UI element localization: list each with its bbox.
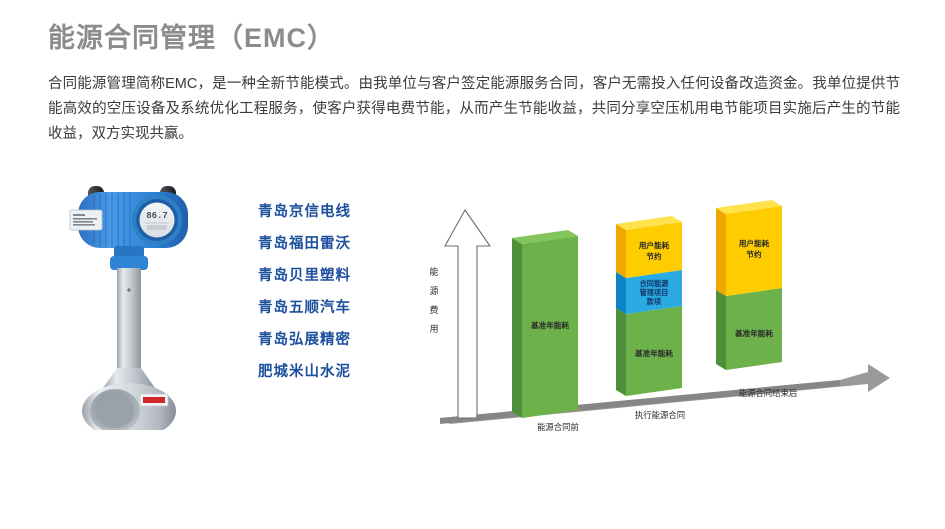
bar-2-segment-baseline-side — [616, 308, 626, 396]
bar-2-baseline-label: 基准年能耗 — [634, 348, 673, 358]
bar-2-saving-label-line1: 用户能耗 — [638, 240, 670, 250]
page-title: 能源合同管理（EMC） — [48, 16, 335, 55]
bar-2-payment-label-line1: 合同能源 — [639, 279, 670, 288]
bar-2-saving-label-line2: 节约 — [646, 251, 662, 261]
y-axis-arrow — [445, 210, 490, 418]
bar-2-payment-label-line2: 管理项目 — [640, 288, 669, 297]
x-axis-label-3: 能源合同结束后 — [739, 388, 798, 398]
bar-3-segment-baseline-side — [716, 290, 726, 370]
x-axis-label-1: 能源合同前 — [537, 422, 579, 432]
list-item: 青岛福田雷沃 — [258, 228, 388, 260]
flowmeter-illustration: 86.7 — [60, 180, 205, 430]
bar-3-baseline-label: 基准年能耗 — [734, 328, 773, 338]
flowmeter-display-reading: 86.7 — [146, 211, 168, 221]
chart-bar-3: 基准年能耗 用户能耗 节约 — [716, 200, 782, 370]
chart-bar-1: 基准年能耗 — [512, 230, 578, 418]
list-item: 青岛五顺汽车 — [258, 292, 388, 324]
bar-2-segment-saving-side — [616, 224, 626, 278]
client-list: 青岛京信电线 青岛福田雷沃 青岛贝里塑料 青岛五顺汽车 青岛弘展精密 肥城米山水… — [258, 196, 388, 388]
bar-3-saving-label-line1: 用户能耗 — [738, 238, 770, 248]
x-axis-label-2: 执行能源合同 — [635, 410, 685, 420]
y-axis-label-char: 费 — [429, 304, 438, 315]
emc-cost-chart: 能 源 费 用 基准年能耗 基准年能耗 — [420, 180, 940, 435]
bar-2-segment-saving-front — [626, 222, 682, 278]
y-axis-label: 能 源 费 用 — [429, 266, 438, 334]
bar-2-payment-label-line3: 款项 — [646, 297, 662, 306]
list-item: 青岛弘展精密 — [258, 324, 388, 356]
bar-1-baseline-label: 基准年能耗 — [530, 320, 569, 330]
chart-svg: 能 源 费 用 基准年能耗 基准年能耗 — [420, 180, 940, 435]
flowmeter-icon: 86.7 — [60, 180, 205, 430]
emc-page: 能源合同管理（EMC） 合同能源管理简称EMC，是一种全新节能模式。由我单位与客… — [0, 0, 945, 529]
list-item: 青岛贝里塑料 — [258, 260, 388, 292]
bar-3-segment-saving-side — [716, 208, 726, 296]
bar-2-segment-payment-side — [616, 272, 626, 314]
list-item: 肥城米山水泥 — [258, 356, 388, 388]
list-item: 青岛京信电线 — [258, 196, 388, 228]
intro-paragraph: 合同能源管理简称EMC，是一种全新节能模式。由我单位与客户签定能源服务合同，客户… — [48, 72, 900, 147]
chart-bar-2: 基准年能耗 合同能源 管理项目 款项 用户能耗 节约 — [616, 216, 682, 396]
y-axis-label-char: 能 — [429, 266, 438, 277]
y-axis-label-char: 源 — [429, 286, 438, 296]
bar-3-saving-label-line2: 节约 — [746, 249, 762, 259]
bar-1-segment-baseline-side — [512, 238, 522, 418]
y-axis-label-char: 用 — [429, 324, 438, 334]
